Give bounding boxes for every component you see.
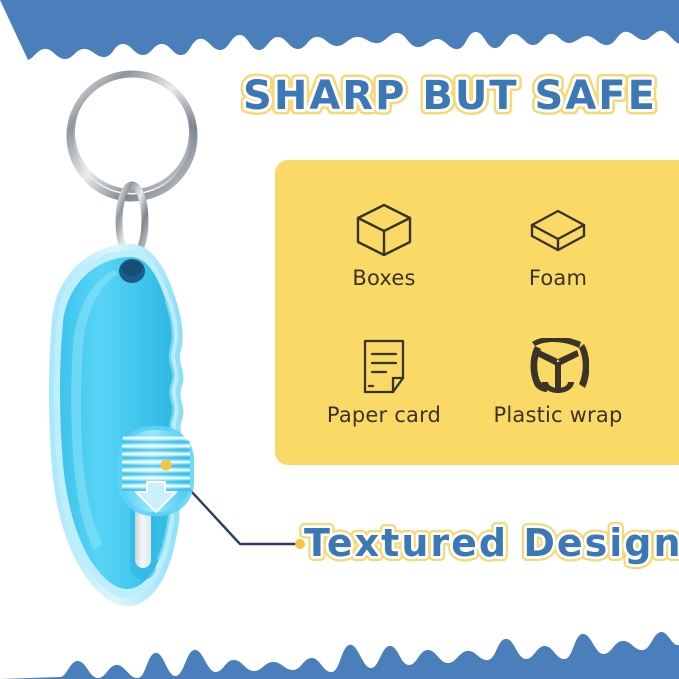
key-ring — [70, 73, 194, 198]
feature-panel: Boxes Foam — [275, 160, 679, 465]
foam-slab-icon — [527, 201, 589, 259]
key-ring-inner-coil — [73, 73, 191, 191]
top-wave-shape — [0, 0, 679, 60]
feature-paper-card-label: Paper card — [327, 405, 441, 426]
feature-boxes-label: Boxes — [352, 268, 415, 289]
headline-banner: SHARP BUT SAFE SHARP BUT SAFE SHARP BUT … — [228, 68, 673, 124]
bottom-wave-shape — [0, 632, 679, 679]
infographic-canvas: SHARP BUT SAFE SHARP BUT SAFE SHARP BUT … — [0, 0, 679, 679]
feature-paper-card: Paper card — [297, 314, 471, 452]
top-wave-border — [0, 0, 679, 62]
slider-thumb[interactable] — [118, 426, 194, 516]
callout-label-svg: Textured Design Textured Design Textured… — [300, 512, 672, 574]
feature-foam: Foam — [471, 176, 645, 314]
callout-label: Textured Design Textured Design Textured… — [300, 512, 672, 574]
plastic-wrap-icon — [527, 338, 589, 396]
feature-grid: Boxes Foam — [275, 160, 679, 465]
keyring-hole-shadow — [122, 260, 142, 276]
cube-icon — [353, 201, 415, 259]
feature-plastic-wrap-label: Plastic wrap — [493, 405, 622, 426]
callout-text: Textured Design — [304, 521, 679, 565]
feature-boxes: Boxes — [297, 176, 471, 314]
headline-svg: SHARP BUT SAFE SHARP BUT SAFE SHARP BUT … — [228, 68, 673, 124]
feature-plastic-wrap: Plastic wrap — [471, 314, 645, 452]
headline-text: SHARP BUT SAFE — [243, 73, 657, 119]
feature-foam-label: Foam — [529, 268, 587, 289]
product-image — [18, 58, 248, 638]
paper-document-icon — [356, 338, 412, 396]
keychain-box-cutter-svg — [18, 58, 248, 638]
callout-anchor-dot — [161, 460, 172, 471]
